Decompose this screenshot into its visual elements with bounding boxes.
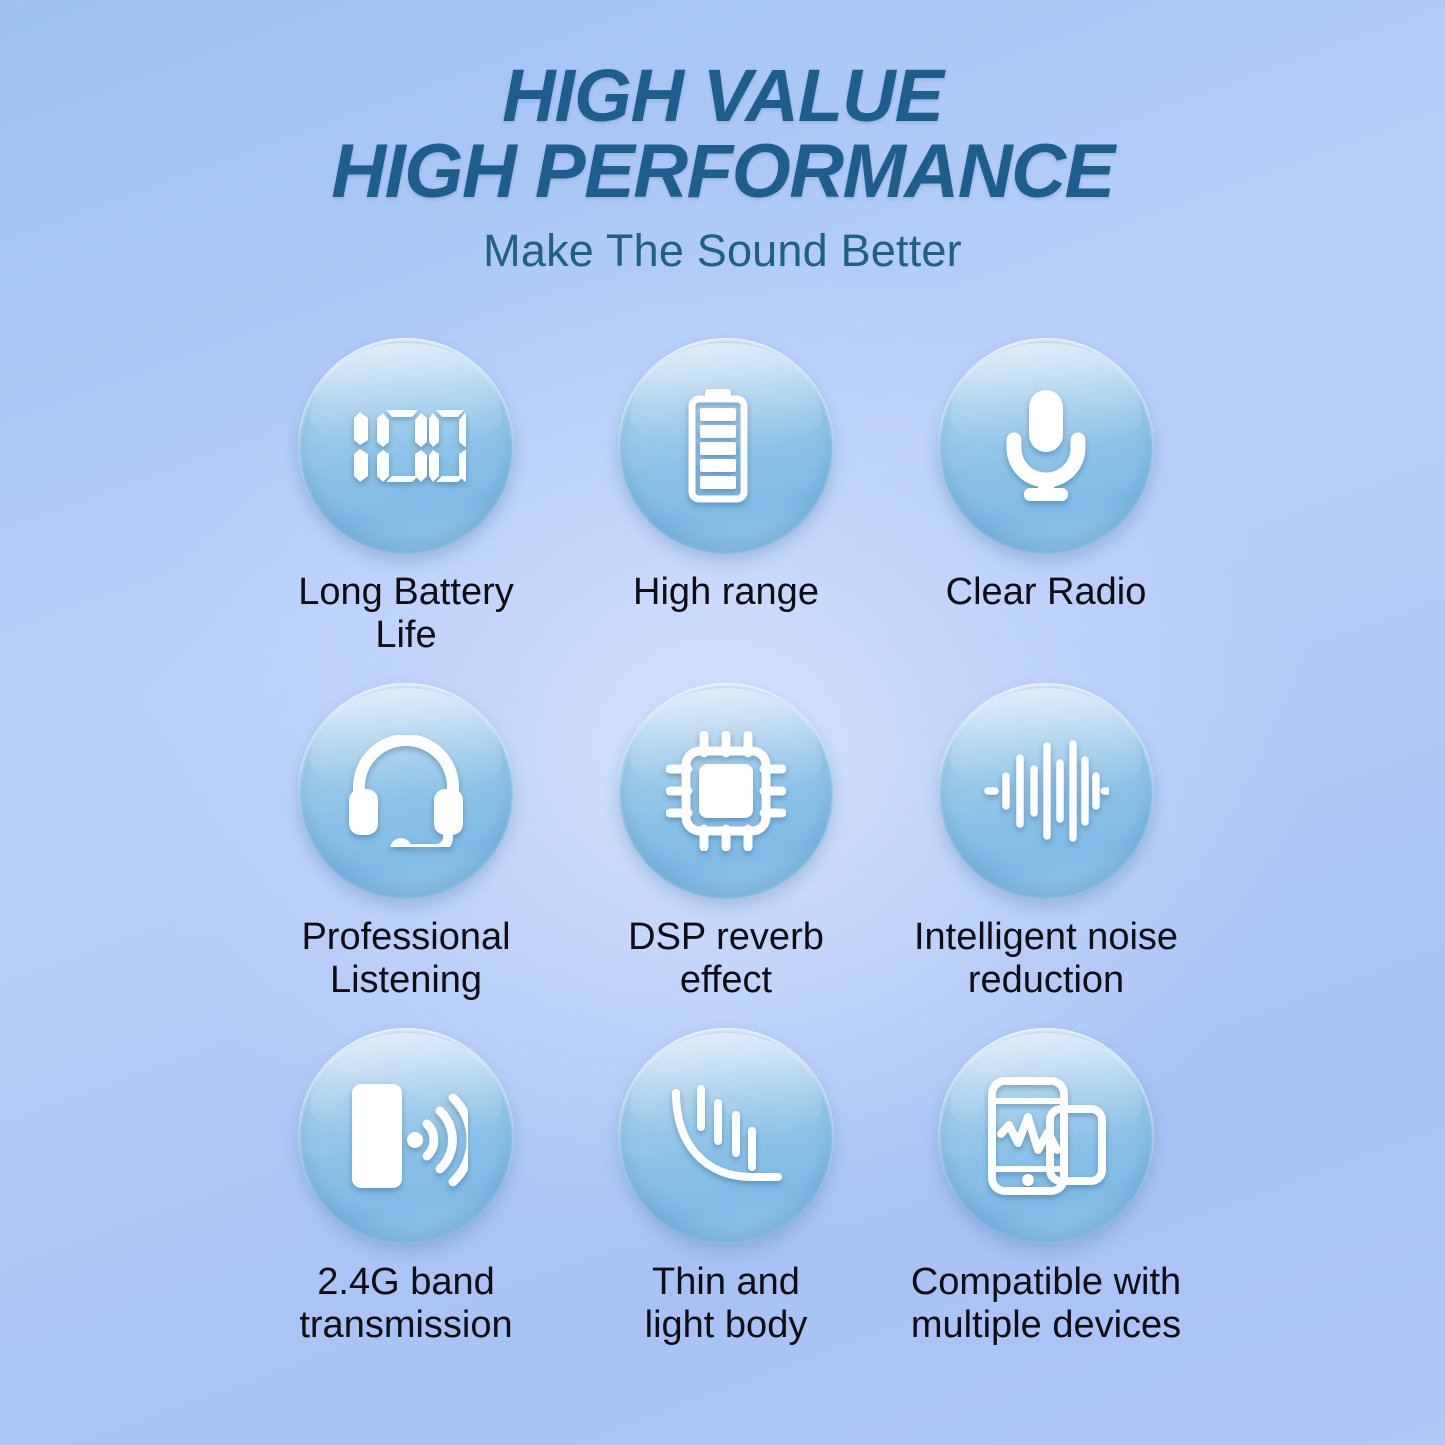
headset-icon — [341, 726, 471, 856]
feature-label: Intelligent noise reduction — [914, 916, 1178, 1001]
feature-item-thin-and-light-body: Thin and light body — [566, 1028, 886, 1373]
feature-label: Thin and light body — [645, 1261, 808, 1346]
feature-item-high-range: High range — [566, 338, 886, 683]
feature-label: 2.4G band transmission — [299, 1261, 512, 1346]
feature-item-dsp-reverb-effect: DSP reverb effect — [566, 683, 886, 1028]
multi-device-icon — [981, 1071, 1111, 1201]
feature-grid: Long Battery Life — [246, 338, 1206, 1373]
feature-item-long-battery-life: Long Battery Life — [246, 338, 566, 683]
feature-item-clear-radio: Clear Radio — [886, 338, 1206, 683]
digital-100-icon — [341, 381, 471, 511]
feature-badge — [938, 683, 1154, 899]
cpu-chip-icon — [661, 726, 791, 856]
microphone-icon — [981, 381, 1111, 511]
feature-badge — [938, 1028, 1154, 1244]
headline-line-2: HIGH PERFORMANCE — [0, 133, 1445, 211]
feature-label: Clear Radio — [946, 571, 1147, 614]
feature-label: Compatible with multiple devices — [911, 1261, 1181, 1346]
battery-full-icon — [661, 381, 791, 511]
feature-item-compatible-multiple-devices: Compatible with multiple devices — [886, 1028, 1206, 1373]
feature-poster: HIGH VALUE HIGH PERFORMANCE Make The Sou… — [0, 0, 1445, 1445]
feature-badge — [298, 683, 514, 899]
feature-badge — [618, 1028, 834, 1244]
headline-line-1: HIGH VALUE — [0, 58, 1445, 133]
feature-label: High range — [633, 571, 819, 614]
feature-badge — [298, 1028, 514, 1244]
feature-item-24g-band-transmission: 2.4G band transmission — [246, 1028, 566, 1373]
feature-item-professional-listening: Professional Listening — [246, 683, 566, 1028]
feature-label: Professional Listening — [301, 916, 510, 1001]
poster-header: HIGH VALUE HIGH PERFORMANCE Make The Sou… — [0, 58, 1445, 277]
feature-item-intelligent-noise-reduction: Intelligent noise reduction — [886, 683, 1206, 1028]
feature-badge — [618, 683, 834, 899]
feature-label: DSP reverb effect — [628, 916, 824, 1001]
feature-badge — [938, 338, 1154, 554]
subtitle: Make The Sound Better — [0, 225, 1445, 277]
wireless-signal-icon — [341, 1071, 471, 1201]
feature-label: Long Battery Life — [298, 571, 513, 656]
headline: HIGH VALUE HIGH PERFORMANCE — [0, 58, 1445, 211]
feature-badge — [298, 338, 514, 554]
feature-badge — [618, 338, 834, 554]
sound-wave-icon — [981, 726, 1111, 856]
feather-icon — [661, 1071, 791, 1201]
